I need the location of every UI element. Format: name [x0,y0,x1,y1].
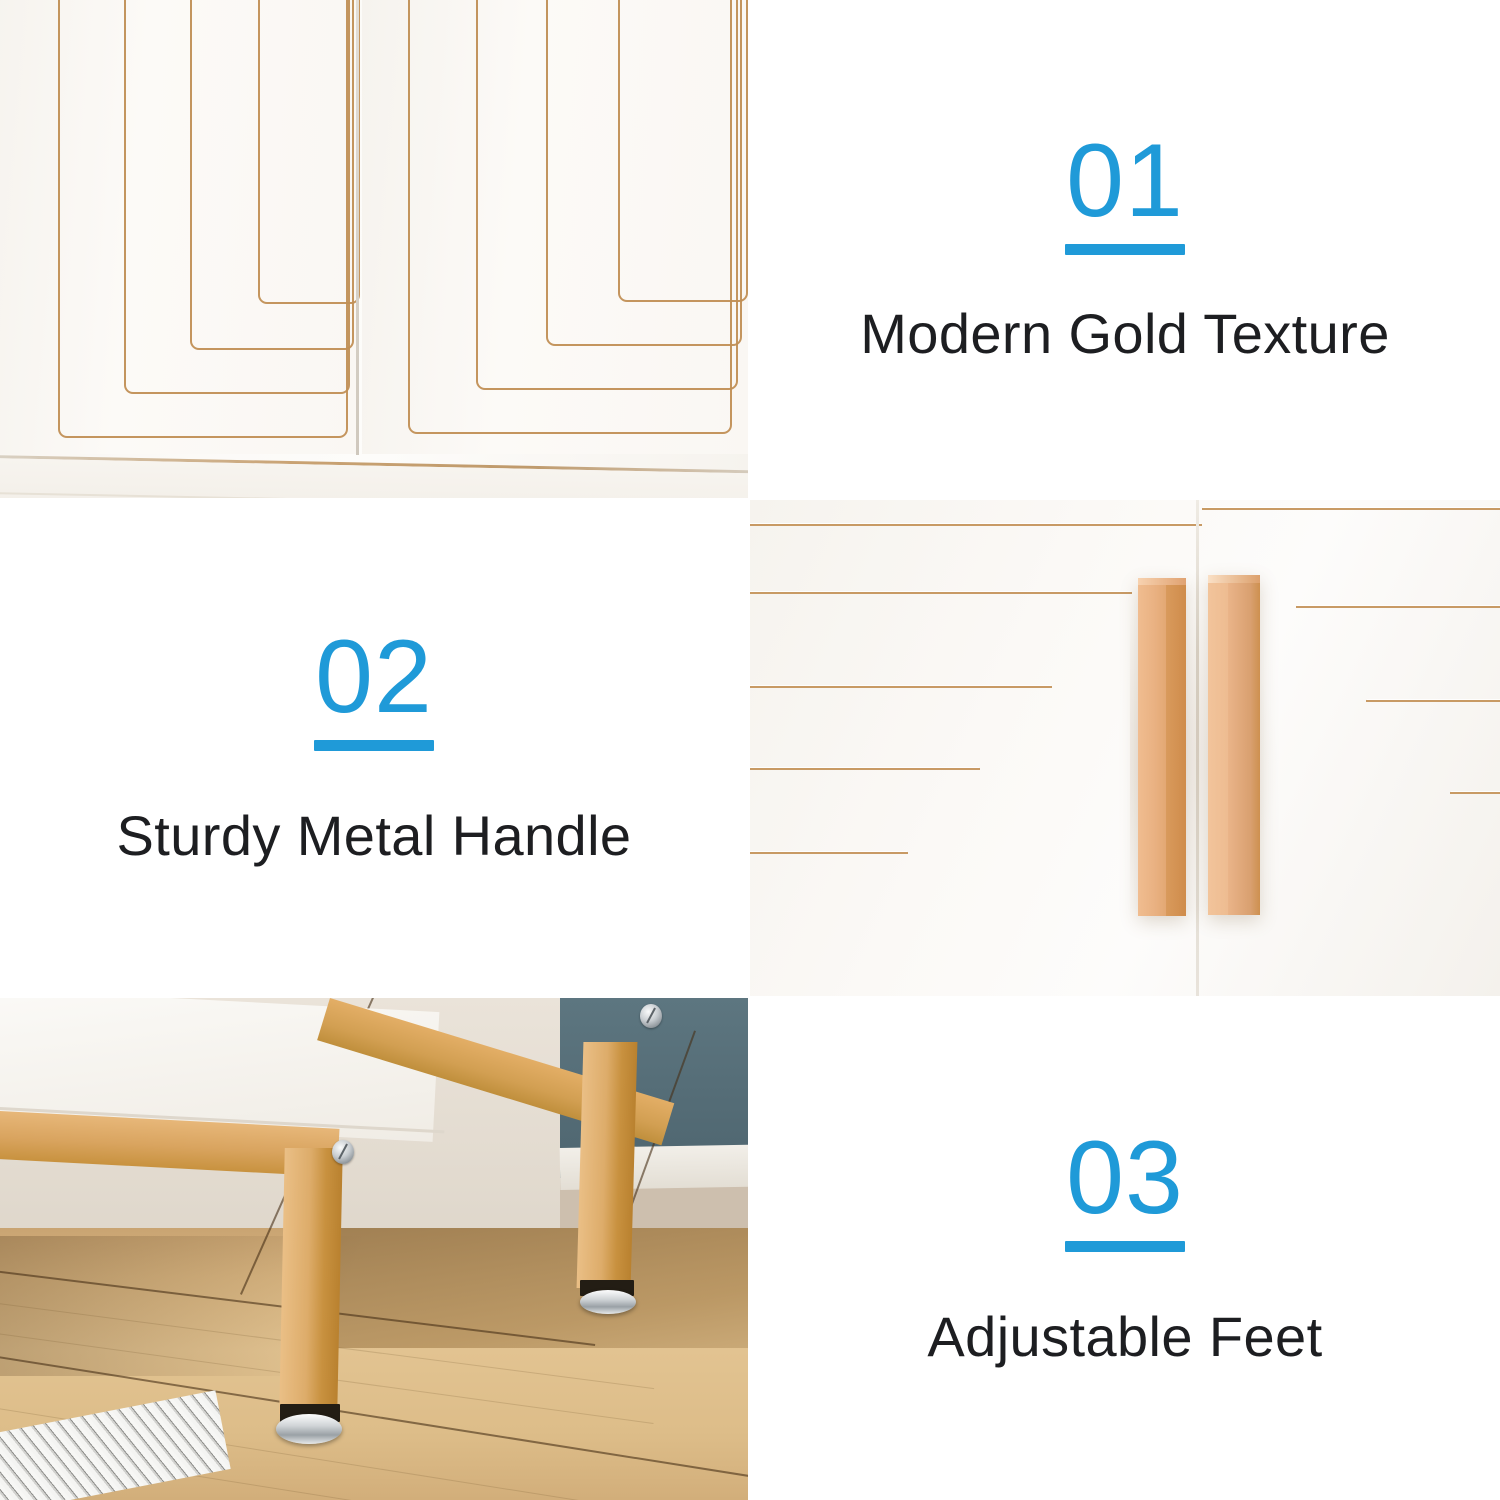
door-groove-l4 [258,0,360,304]
photo-panel-gold-texture [0,0,748,498]
photo-panel-adjustable-feet [0,998,748,1500]
leg-screw-front [332,1140,354,1164]
feature-caption-01: Modern Gold Texture [860,301,1390,366]
feature-number-underline-02 [314,740,434,751]
door-groove-r4 [618,0,748,302]
door-center-seam [1196,500,1199,996]
metal-handle-left [1138,578,1186,916]
adjustable-foot-front [276,1414,342,1444]
feature-caption-02: Sturdy Metal Handle [117,803,632,868]
handle-door-right-step4 [1450,792,1500,996]
feature-number-underline-01 [1065,244,1185,255]
cabinet-doors-gold-groove-photo [0,0,748,498]
leg-screw-back [640,1004,662,1028]
feature-number-underline-03 [1065,1241,1185,1252]
cabinet-leg-front [279,1148,343,1414]
feature-caption-03: Adjustable Feet [927,1304,1322,1369]
feature-number-block-02: 02 [314,628,434,752]
handle-door-left-step5 [750,852,908,996]
cabinet-handle-photo [750,500,1500,996]
feature-number-03: 03 [1066,1129,1184,1228]
feature-number-01: 01 [1066,132,1184,231]
feature-number-block-01: 01 [1065,132,1185,256]
adjustable-foot-back [580,1290,636,1314]
feature-card-01: 01 Modern Gold Texture [750,0,1500,498]
cabinet-leg-back [577,1042,638,1288]
door-center-seam [356,0,359,455]
metal-handle-right [1208,575,1260,915]
feature-card-02: 02 Sturdy Metal Handle [0,500,748,996]
feature-number-02: 02 [315,628,433,727]
infographic-canvas: 01 Modern Gold Texture 02 Sturdy Metal H… [0,0,1500,1500]
photo-panel-metal-handle [750,500,1500,996]
feature-number-block-03: 03 [1065,1129,1185,1253]
feature-card-03: 03 Adjustable Feet [750,998,1500,1500]
cabinet-leg-adjustable-feet-photo [0,998,748,1500]
